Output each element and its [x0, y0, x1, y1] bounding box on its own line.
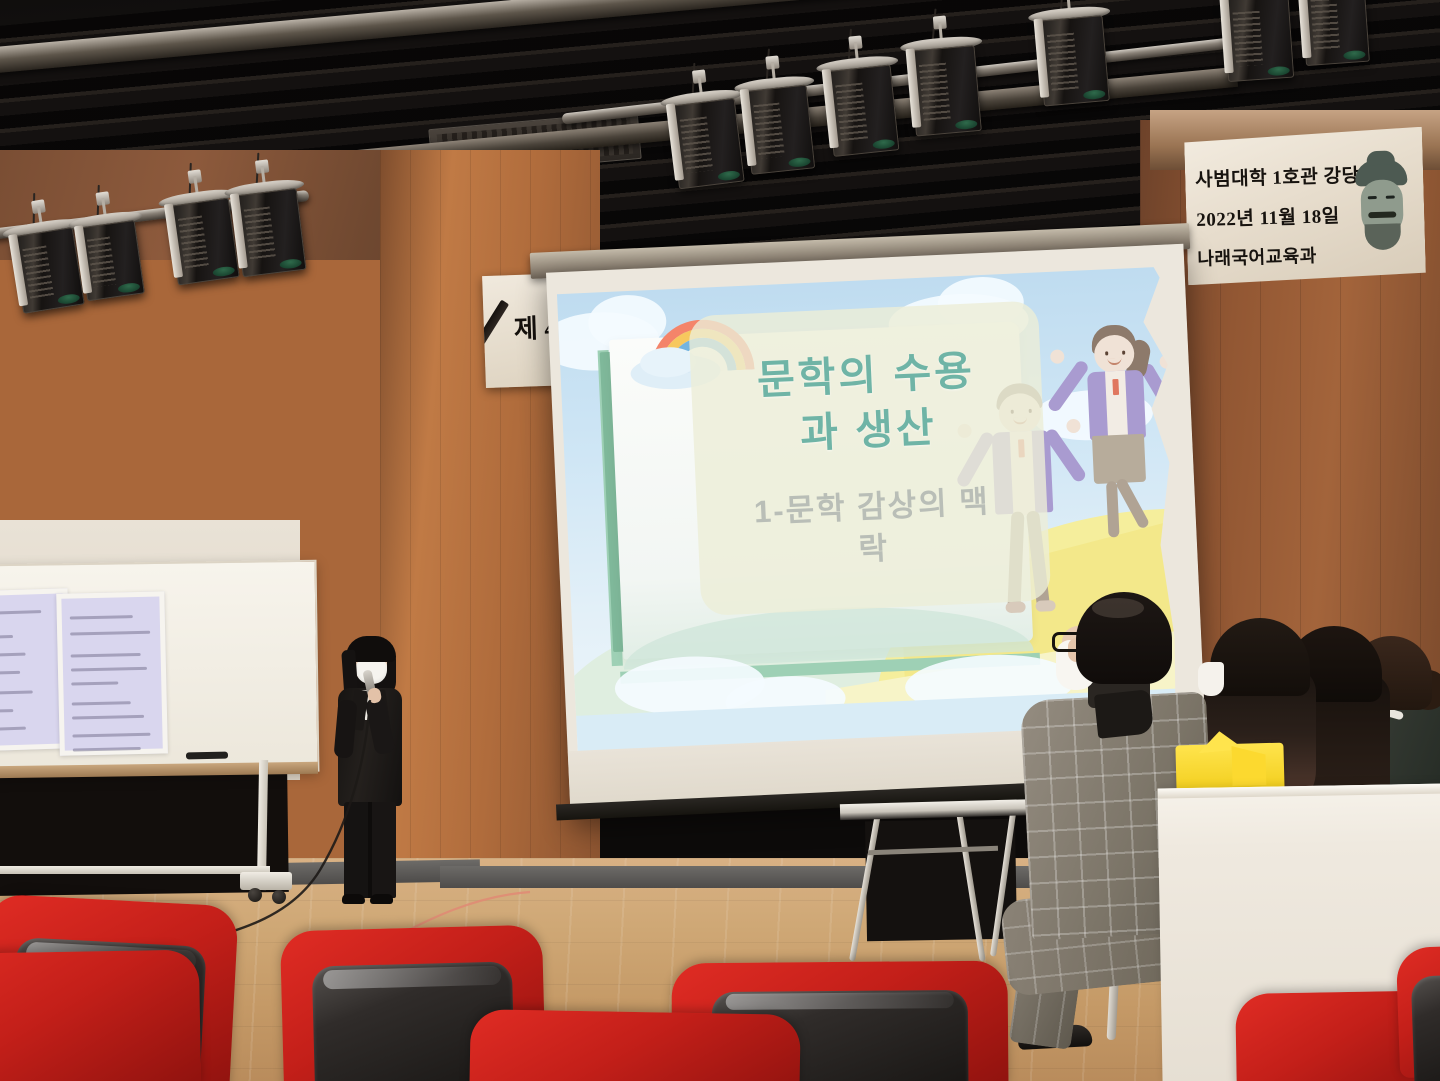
stage-light-icon	[232, 182, 306, 271]
stage-light-icon	[1300, 0, 1369, 60]
whiteboard-caster-wheel[interactable]	[248, 888, 262, 902]
baseboard	[440, 866, 720, 888]
stage-light-icon	[668, 92, 744, 183]
stage-light-icon	[166, 192, 239, 280]
whiteboard-stand-base	[240, 872, 292, 890]
stage-light-icon	[10, 221, 83, 308]
banner-line-3: 나래국어교육과	[1197, 242, 1317, 271]
slide-title-card: 문학의 수용 과 생산 1-문학 감상의 맥 락	[688, 300, 1051, 616]
slide-title: 문학의 수용 과 생산	[690, 340, 1045, 466]
presenter-shoe	[342, 894, 365, 904]
banner-line-1: 사범대학 1호관 강당	[1195, 160, 1360, 192]
stage-light-icon	[1222, 0, 1294, 76]
scholar-portrait-icon	[1347, 159, 1418, 257]
stage-light-icon	[76, 214, 144, 295]
banner-line-2: 2022년 11월 18일	[1196, 201, 1340, 232]
auditorium-scene: 사범대학 1호관 강당 2022년 11월 18일 나래국어교육과 제 4	[0, 0, 1440, 1081]
stage-light-icon	[742, 79, 814, 169]
handwritten-poem-poster-right	[56, 591, 168, 755]
stage-light-icon	[908, 39, 981, 130]
red-auditorium-seat[interactable]	[469, 1009, 801, 1081]
pencil-icon	[482, 300, 509, 371]
slide-subtitle: 1-문학 감상의 맥 락	[696, 478, 1049, 577]
stage-light-icon	[824, 59, 899, 151]
red-auditorium-seat[interactable]	[1396, 944, 1440, 1078]
mobile-whiteboard	[0, 560, 319, 777]
whiteboard-marker-icon	[186, 752, 228, 760]
stage-light-icon	[1036, 9, 1109, 100]
whiteboard-stand-rail	[0, 866, 270, 874]
event-banner: 사범대학 1호관 강당 2022년 11월 18일 나래국어교육과	[1184, 127, 1426, 286]
presenter-trousers	[344, 802, 396, 898]
whiteboard-caster-wheel[interactable]	[272, 890, 286, 904]
red-auditorium-seat[interactable]	[0, 950, 201, 1081]
presenter-with-microphone	[330, 636, 410, 914]
